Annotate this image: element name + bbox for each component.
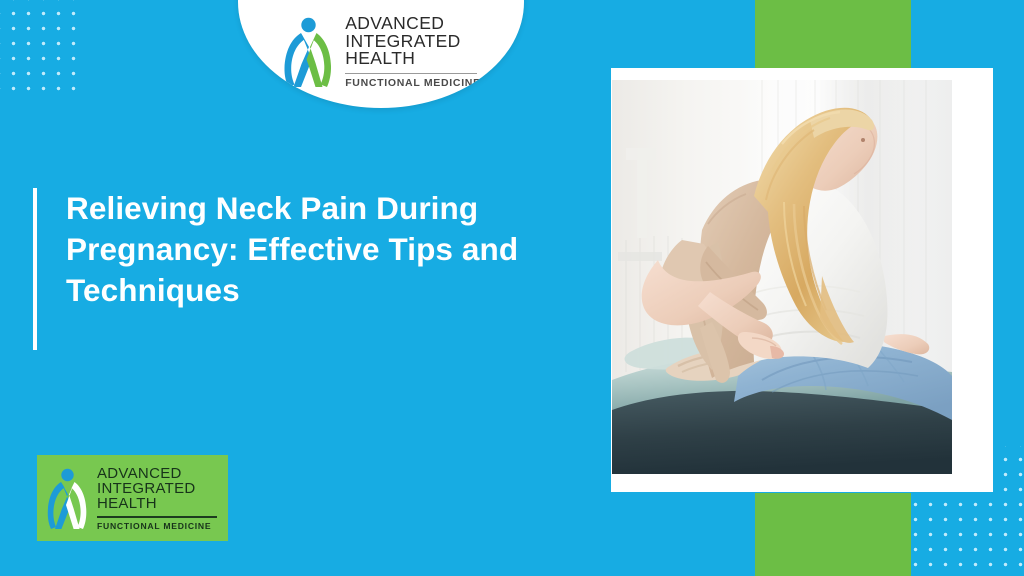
footer-logo-divider bbox=[97, 516, 217, 518]
footer-logo-line-2: INTEGRATED bbox=[97, 481, 217, 496]
advanced-integrated-health-figure-mark-icon bbox=[281, 16, 333, 88]
header-logo-content: ADVANCED INTEGRATED HEALTH FUNCTIONAL ME… bbox=[281, 15, 481, 88]
dot-pattern-top-left bbox=[0, 0, 84, 92]
header-logo-divider bbox=[345, 73, 477, 74]
header-logo-badge: ADVANCED INTEGRATED HEALTH FUNCTIONAL ME… bbox=[238, 0, 524, 108]
headline-accent-bar bbox=[33, 188, 37, 350]
footer-logo-line-3: HEALTH bbox=[97, 496, 217, 511]
footer-logo-text: ADVANCED INTEGRATED HEALTH FUNCTIONAL ME… bbox=[97, 466, 217, 530]
photo-frame bbox=[612, 80, 952, 474]
header-logo-text: ADVANCED INTEGRATED HEALTH FUNCTIONAL ME… bbox=[345, 15, 481, 88]
article-hero-photo bbox=[612, 80, 952, 474]
footer-logo-plate: ADVANCED INTEGRATED HEALTH FUNCTIONAL ME… bbox=[37, 455, 228, 541]
header-logo-line-3: HEALTH bbox=[345, 50, 481, 68]
green-accent-band-top bbox=[755, 0, 911, 71]
slide-canvas: ADVANCED INTEGRATED HEALTH FUNCTIONAL ME… bbox=[0, 0, 1024, 576]
advanced-integrated-health-figure-mark-icon bbox=[45, 467, 88, 530]
header-logo-tagline: FUNCTIONAL MEDICINE bbox=[345, 78, 481, 89]
footer-logo-tagline: FUNCTIONAL MEDICINE bbox=[97, 522, 217, 531]
green-accent-band-bottom bbox=[755, 493, 911, 576]
footer-logo-line-1: ADVANCED bbox=[97, 466, 217, 481]
header-logo-line-1: ADVANCED bbox=[345, 15, 481, 33]
page-title: Relieving Neck Pain During Pregnancy: Ef… bbox=[66, 188, 536, 350]
headline-block: Relieving Neck Pain During Pregnancy: Ef… bbox=[33, 188, 536, 350]
